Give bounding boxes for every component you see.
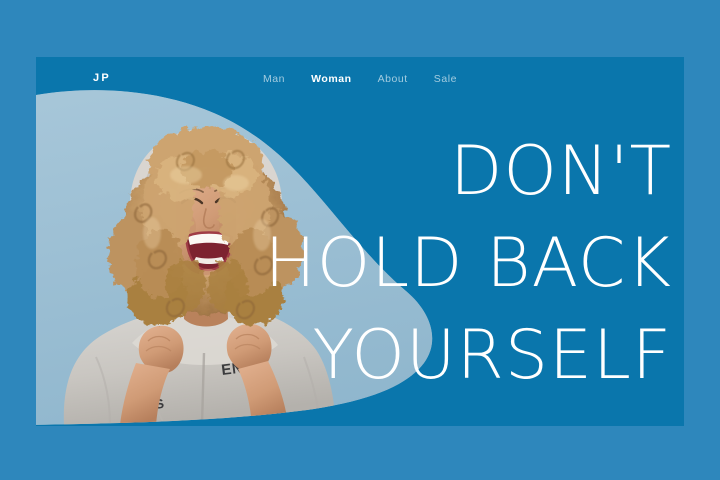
blob-shape: END S <box>36 57 684 426</box>
nav-item-about[interactable]: About <box>378 74 408 85</box>
main-nav: Man Woman About Sale <box>36 74 684 85</box>
nav-item-sale[interactable]: Sale <box>434 74 457 85</box>
hero-canvas: END S <box>0 0 720 480</box>
nav-item-woman[interactable]: Woman <box>311 74 351 85</box>
hero-artwork: END S <box>36 57 684 426</box>
hero-card: END S <box>36 57 684 426</box>
blob-photo-group: END S <box>36 57 684 426</box>
nav-item-man[interactable]: Man <box>263 74 285 85</box>
